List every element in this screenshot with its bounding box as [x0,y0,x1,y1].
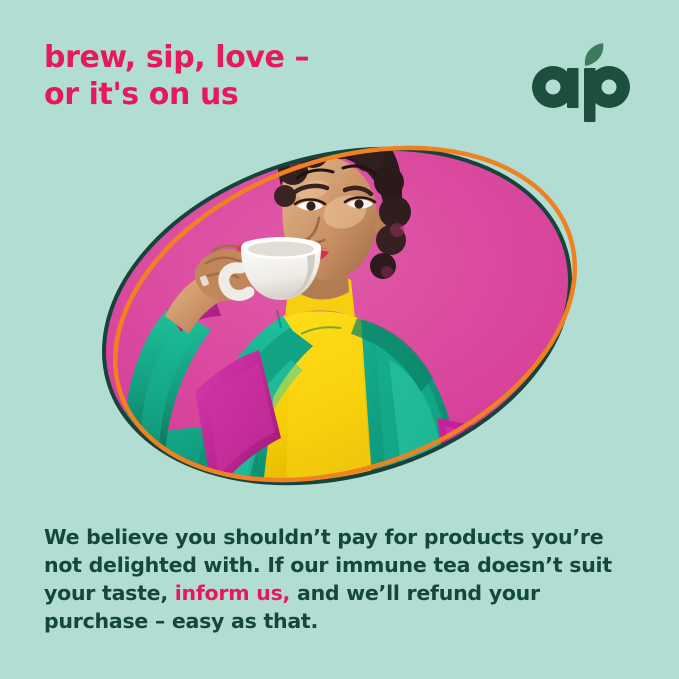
inform-us-link[interactable]: inform us, [175,581,290,605]
body-line-4: purchase – easy as that. [44,608,624,636]
hero-image [45,120,635,520]
body-line-3: your taste, inform us, and we’ll refund … [44,580,624,608]
logo-letter-p [584,66,630,122]
leaf-icon [582,43,606,66]
body-line-3-post: and we’ll refund your [290,581,540,605]
body-line-3-pre: your taste, [44,581,175,605]
body-line-1: We believe you shouldn’t pay for product… [44,524,624,552]
ad-banner: brew, sip, love – or it's on us ap [0,0,679,679]
logo-letter-a [532,66,579,108]
page-title: brew, sip, love – or it's on us [44,40,464,113]
headline-line-2: or it's on us [44,77,464,114]
brand-logo[interactable]: ap [523,36,643,124]
hero-photo [45,120,635,520]
body-copy: We believe you shouldn’t pay for product… [44,524,624,636]
body-line-2: not delighted with. If our immune tea do… [44,552,624,580]
headline-line-1: brew, sip, love – [44,40,464,77]
